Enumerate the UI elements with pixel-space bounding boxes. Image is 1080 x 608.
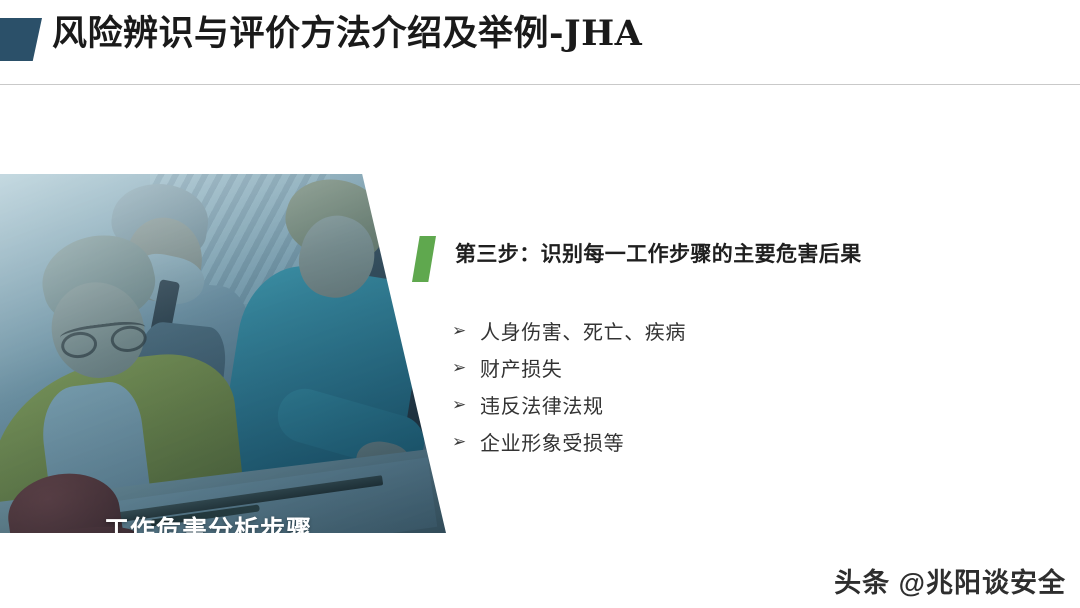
list-item-label: 违反法律法规 [480, 390, 604, 419]
slide-canvas: 风险辨识与评价方法介绍及举例-JHA [0, 0, 1080, 608]
photo-caption: 工作危害分析步骤 [104, 510, 312, 533]
step-title: 第三步：识别每一工作步骤的主要危害后果 [455, 238, 862, 268]
list-item: ➢ 财产损失 [452, 349, 1012, 386]
arrow-bullet-icon: ➢ [452, 396, 480, 413]
list-item-label: 企业形象受损等 [480, 427, 624, 456]
photo-gradient-overlay [0, 174, 446, 533]
arrow-bullet-icon: ➢ [452, 322, 480, 339]
list-item: ➢ 企业形象受损等 [452, 423, 1012, 460]
content-area: 第三步：识别每一工作步骤的主要危害后果 ➢ 人身伤害、死亡、疾病 ➢ 财产损失 … [410, 232, 1050, 284]
watermark: 头条 @兆阳谈安全 [834, 561, 1066, 600]
list-item: ➢ 违反法律法规 [452, 386, 1012, 423]
header-divider [0, 84, 1080, 85]
photo-panel: 工作危害分析步骤 [0, 174, 446, 533]
step-heading: 第三步：识别每一工作步骤的主要危害后果 [410, 232, 1050, 284]
list-item-label: 人身伤害、死亡、疾病 [480, 316, 686, 345]
list-item-label: 财产损失 [480, 353, 562, 382]
arrow-bullet-icon: ➢ [452, 433, 480, 450]
hazard-consequence-list: ➢ 人身伤害、死亡、疾病 ➢ 财产损失 ➢ 违反法律法规 ➢ 企业形象受损等 [452, 312, 1012, 460]
page-title: 风险辨识与评价方法介绍及举例-JHA [52, 9, 642, 60]
list-item: ➢ 人身伤害、死亡、疾病 [452, 312, 1012, 349]
step-marker-parallelogram-icon [412, 236, 436, 282]
header-accent-parallelogram-icon [0, 18, 42, 61]
slide-header: 风险辨识与评价方法介绍及举例-JHA [0, 0, 1080, 85]
arrow-bullet-icon: ➢ [452, 359, 480, 376]
